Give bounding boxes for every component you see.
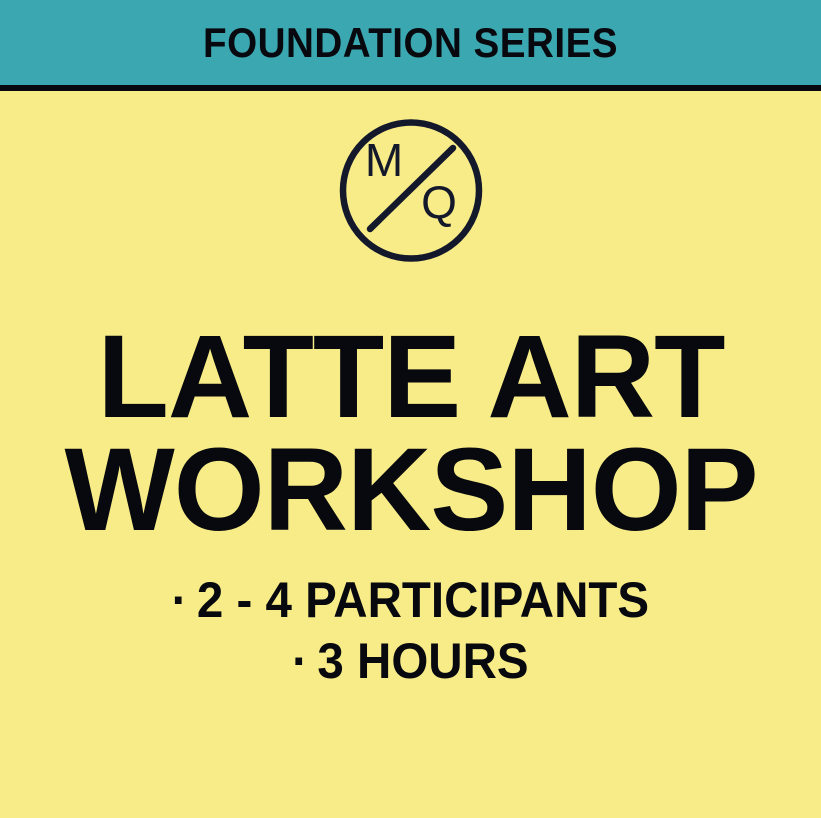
workshop-poster: FOUNDATION SERIES M Q LATTE ART WORKSHOP [0,0,821,818]
title-line-one: LATTE ART [64,321,757,434]
series-label: FOUNDATION SERIES [203,22,618,64]
mq-monogram-logo: M Q [336,118,486,263]
workshop-details-list: ·2 - 4 PARTICIPANTS ·3 HOURS [159,570,662,692]
bullet-icon: · [172,570,188,631]
bullet-icon: · [292,631,308,692]
poster-body: M Q LATTE ART WORKSHOP ·2 - 4 PARTICIPAN… [0,91,821,818]
page-title: LATTE ART WORKSHOP [61,321,761,548]
detail-label-participants: 2 - 4 PARTICIPANTS [197,572,649,628]
title-line-two: WORKSHOP [64,434,757,547]
mq-monogram-icon: M Q [336,118,486,263]
logo-letter-q: Q [421,176,457,228]
detail-label-duration: 3 HOURS [318,633,529,689]
logo-letter-m: M [364,134,402,186]
detail-item-participants: ·2 - 4 PARTICIPANTS [172,570,650,631]
detail-item-duration: ·3 HOURS [172,631,650,692]
header-band: FOUNDATION SERIES [0,0,821,85]
